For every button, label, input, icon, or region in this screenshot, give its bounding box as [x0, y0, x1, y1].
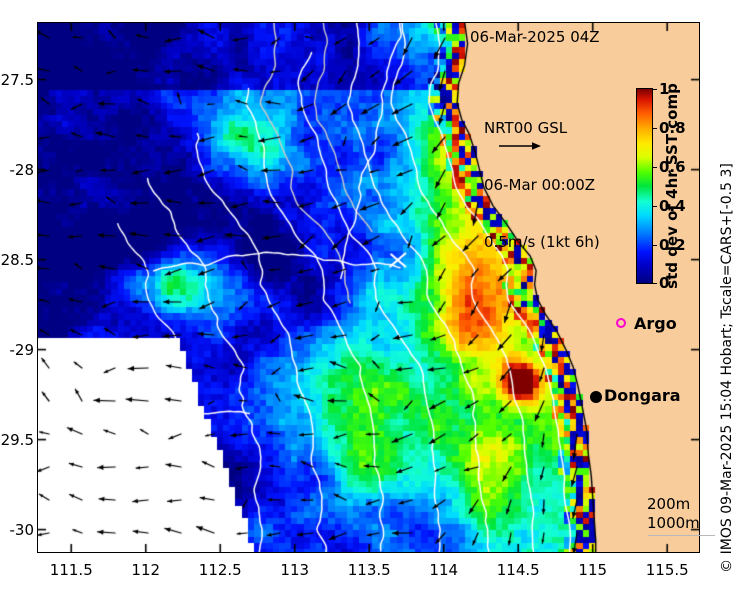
argo-legend-label: Argo: [634, 314, 677, 333]
dongara-city-label: Dongara: [604, 386, 681, 405]
x-tick-label: 114.5: [497, 561, 540, 579]
map-plot-area: [37, 22, 700, 553]
y-tick-label: -28: [10, 161, 35, 179]
y-tick-label: -30: [10, 521, 35, 539]
colorbar-tick-mark: [653, 167, 657, 168]
info-line-time: 06-Mar 00:00Z: [484, 176, 600, 195]
y-tick-label: -27.5: [0, 71, 34, 89]
colorbar-tick-mark: [653, 283, 657, 284]
y-tick-label: -28.5: [0, 251, 34, 269]
colorbar-tick-label: 1: [659, 80, 669, 98]
colorbar-tick-mark: [653, 206, 657, 207]
x-tick-label: 114: [429, 561, 458, 579]
colorbar-tick-mark: [653, 89, 657, 90]
colorbar-tick-label: 0.4: [659, 197, 686, 215]
depth-contour-200m-label: 200m: [647, 495, 690, 513]
colorbar-title: std dev of 4hr SST comp: [663, 83, 681, 289]
x-tick-label: 111.5: [50, 561, 93, 579]
x-tick-label: 115.5: [646, 561, 689, 579]
colorbar-tick-mark: [653, 245, 657, 246]
x-tick-label: 113.5: [348, 561, 391, 579]
colorbar: [636, 88, 653, 284]
depth-contour-1000m-label: 1000m: [647, 514, 700, 532]
argo-marker-icon: [616, 318, 626, 328]
info-line-product: NRT00 GSL: [484, 119, 600, 138]
velocity-scale-arrow-icon: [498, 139, 542, 153]
x-tick-label: 113: [280, 561, 309, 579]
x-tick-label: 112.5: [199, 561, 242, 579]
dongara-marker-icon: [590, 391, 602, 403]
colorbar-tick-label: 0: [659, 274, 669, 292]
colorbar-tick-mark: [653, 128, 657, 129]
date-stamp: 06-Mar-2025 04Z: [470, 28, 600, 46]
colorbar-tick-label: 0.2: [659, 236, 686, 254]
y-tick-label: -29.5: [0, 431, 34, 449]
colorbar-gradient: [637, 89, 652, 283]
figure-canvas: 06-Mar-2025 04Z NRT00 GSL 06-Mar 00:00Z …: [0, 0, 740, 592]
colorbar-tick-label: 0.6: [659, 158, 686, 176]
colorbar-tick-label: 0.8: [659, 119, 686, 137]
depth-legend-rule: [648, 535, 715, 536]
info-line-scale: 0.5m/s (1kt 6h): [484, 233, 600, 252]
x-tick-label: 112: [131, 561, 160, 579]
credit-text: © IMOS 09-Mar-2025 15:04 Hobart; Tscale=…: [719, 163, 735, 573]
y-tick-label: -29: [10, 341, 35, 359]
model-info-block: NRT00 GSL 06-Mar 00:00Z 0.5m/s (1kt 6h): [484, 81, 600, 290]
sst-stddev-heatmap: [37, 22, 700, 553]
x-tick-label: 115: [578, 561, 607, 579]
